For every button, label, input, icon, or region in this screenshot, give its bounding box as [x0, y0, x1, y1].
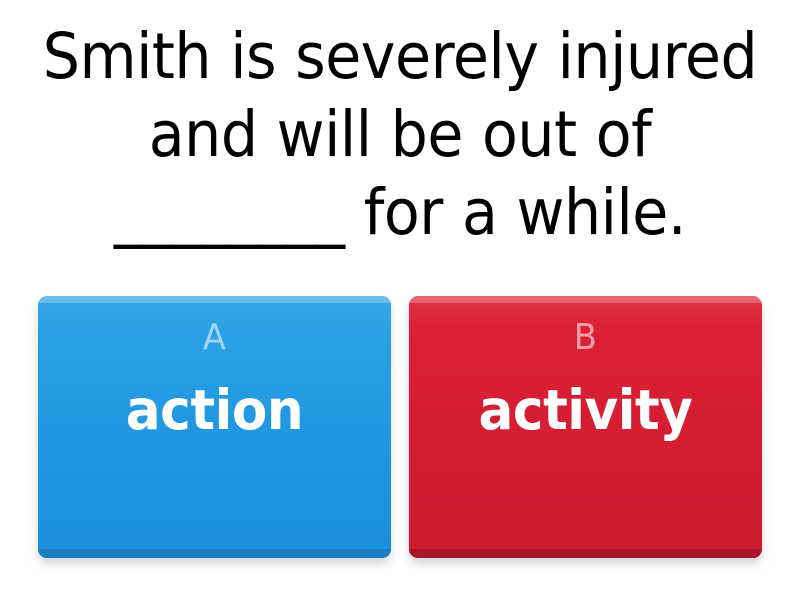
answer-letter-a: A: [203, 318, 226, 358]
question-text: Smith is severely injured and will be ou…: [37, 18, 762, 252]
answer-option-b[interactable]: B activity: [409, 296, 762, 558]
answer-label-a: action: [49, 379, 381, 441]
answer-options-row: A action B activity: [0, 296, 800, 566]
answer-label-b: activity: [420, 379, 752, 441]
answer-letter-b: B: [574, 318, 597, 358]
question-block: Smith is severely injured and will be ou…: [0, 18, 800, 273]
quiz-slide: Smith is severely injured and will be ou…: [0, 0, 800, 600]
answer-option-a[interactable]: A action: [38, 296, 391, 558]
